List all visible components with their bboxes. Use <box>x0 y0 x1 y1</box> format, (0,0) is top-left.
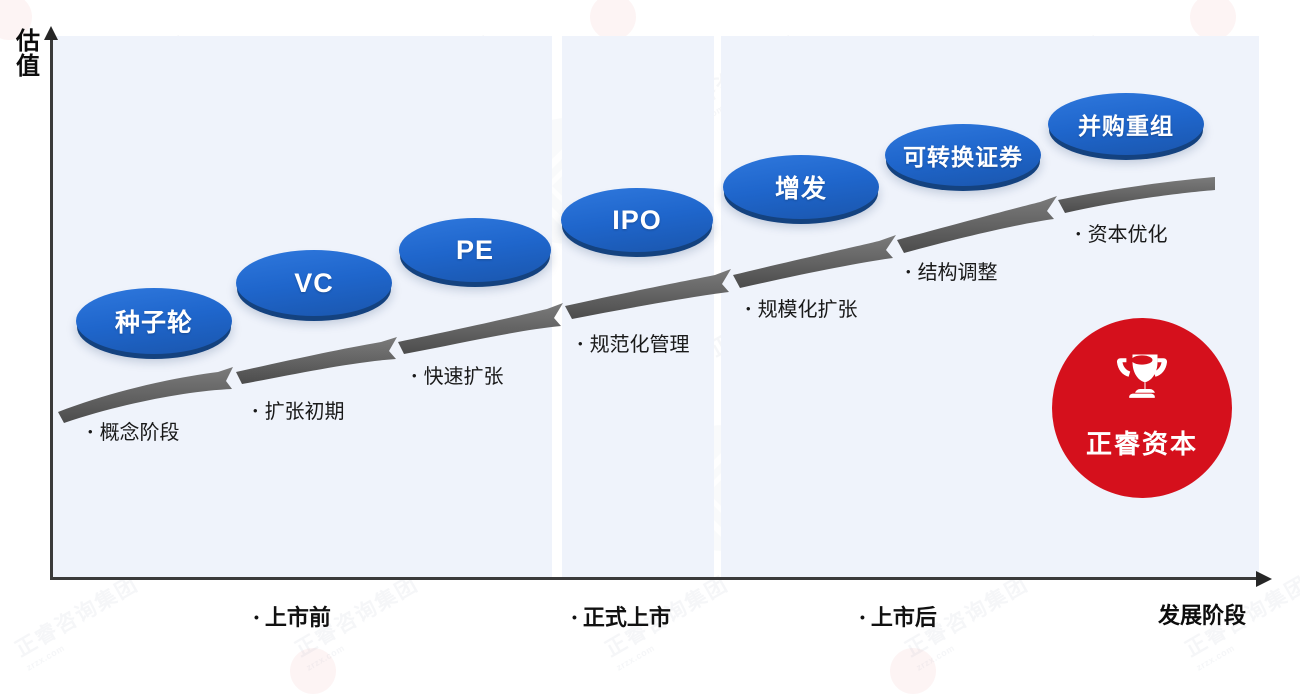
bubble-label: 可转换证券 <box>903 138 1023 172</box>
bullet-icon: • <box>412 368 417 383</box>
note-scaled-expansion: •规模化扩张 <box>746 293 858 322</box>
x-axis-line <box>50 577 1260 580</box>
note-label: 资本优化 <box>1088 224 1168 246</box>
bubble-label: PE <box>456 235 494 266</box>
note-early-expansion: •扩张初期 <box>253 395 345 424</box>
brand-badge-label: 正睿资本 <box>1086 424 1198 461</box>
bullet-icon: • <box>253 403 258 418</box>
phase-label-text: 正式上市 <box>583 605 671 630</box>
watermark-red-dot <box>590 0 636 40</box>
note-label: 结构调整 <box>918 262 998 284</box>
note-label: 概念阶段 <box>100 422 180 444</box>
y-axis-label: 估值 <box>16 30 50 80</box>
watermark-text: 正睿咨询集团zrzx.com <box>9 568 149 673</box>
bubble-label: 增发 <box>775 169 827 205</box>
bubble-convertible-securities[interactable]: 可转换证券 <box>885 124 1041 186</box>
note-label: 规模化扩张 <box>758 299 858 321</box>
bullet-icon: • <box>746 301 751 316</box>
note-standardized-management: •规范化管理 <box>578 328 690 357</box>
bullet-icon: • <box>860 609 865 625</box>
watermark-red-dot <box>890 648 936 694</box>
bubble-label: 种子轮 <box>115 303 193 339</box>
bullet-icon: • <box>578 336 583 351</box>
phase-label-text: 上市前 <box>265 605 331 630</box>
bubble-ipo[interactable]: IPO <box>561 188 713 252</box>
phase-label-ipo: •正式上市 <box>572 600 671 632</box>
note-label: 规范化管理 <box>590 334 690 356</box>
phase-label-pre-ipo: •上市前 <box>254 600 331 632</box>
y-axis-line <box>50 38 53 580</box>
bubble-seed-round[interactable]: 种子轮 <box>76 288 232 354</box>
bubble-label: 并购重组 <box>1078 107 1174 141</box>
trophy-icon <box>1111 351 1173 414</box>
x-axis-label: 发展阶段 <box>1158 598 1246 630</box>
bullet-icon: • <box>572 609 577 625</box>
bubble-label: IPO <box>612 205 662 236</box>
bullet-icon: • <box>906 264 911 279</box>
stage-panel-ipo <box>562 36 714 578</box>
diagram-canvas: 正睿咨询集团zrzx.com 正睿咨询集团zrzx.com 正睿咨询集团zrzx… <box>0 0 1300 695</box>
note-structural-adjustment: •结构调整 <box>906 256 998 285</box>
phase-label-post-ipo: •上市后 <box>860 600 937 632</box>
watermark-red-dot <box>290 648 336 694</box>
brand-badge[interactable]: 正睿资本 <box>1052 318 1232 498</box>
note-concept-stage: •概念阶段 <box>88 416 180 445</box>
bubble-ma-restructuring[interactable]: 并购重组 <box>1048 93 1204 155</box>
bubble-vc[interactable]: VC <box>236 250 392 316</box>
note-rapid-expansion: •快速扩张 <box>412 360 504 389</box>
bubble-additional-issue[interactable]: 增发 <box>723 155 879 219</box>
note-capital-optimization: •资本优化 <box>1076 218 1168 247</box>
bubble-label: VC <box>294 268 334 299</box>
note-label: 扩张初期 <box>265 401 345 423</box>
bullet-icon: • <box>88 424 93 439</box>
bullet-icon: • <box>1076 226 1081 241</box>
bubble-pe[interactable]: PE <box>399 218 551 282</box>
watermark-red-dot <box>1190 0 1236 40</box>
bullet-icon: • <box>254 609 259 625</box>
note-label: 快速扩张 <box>424 366 504 388</box>
x-axis-arrow <box>1256 571 1272 587</box>
phase-label-text: 上市后 <box>871 605 937 630</box>
